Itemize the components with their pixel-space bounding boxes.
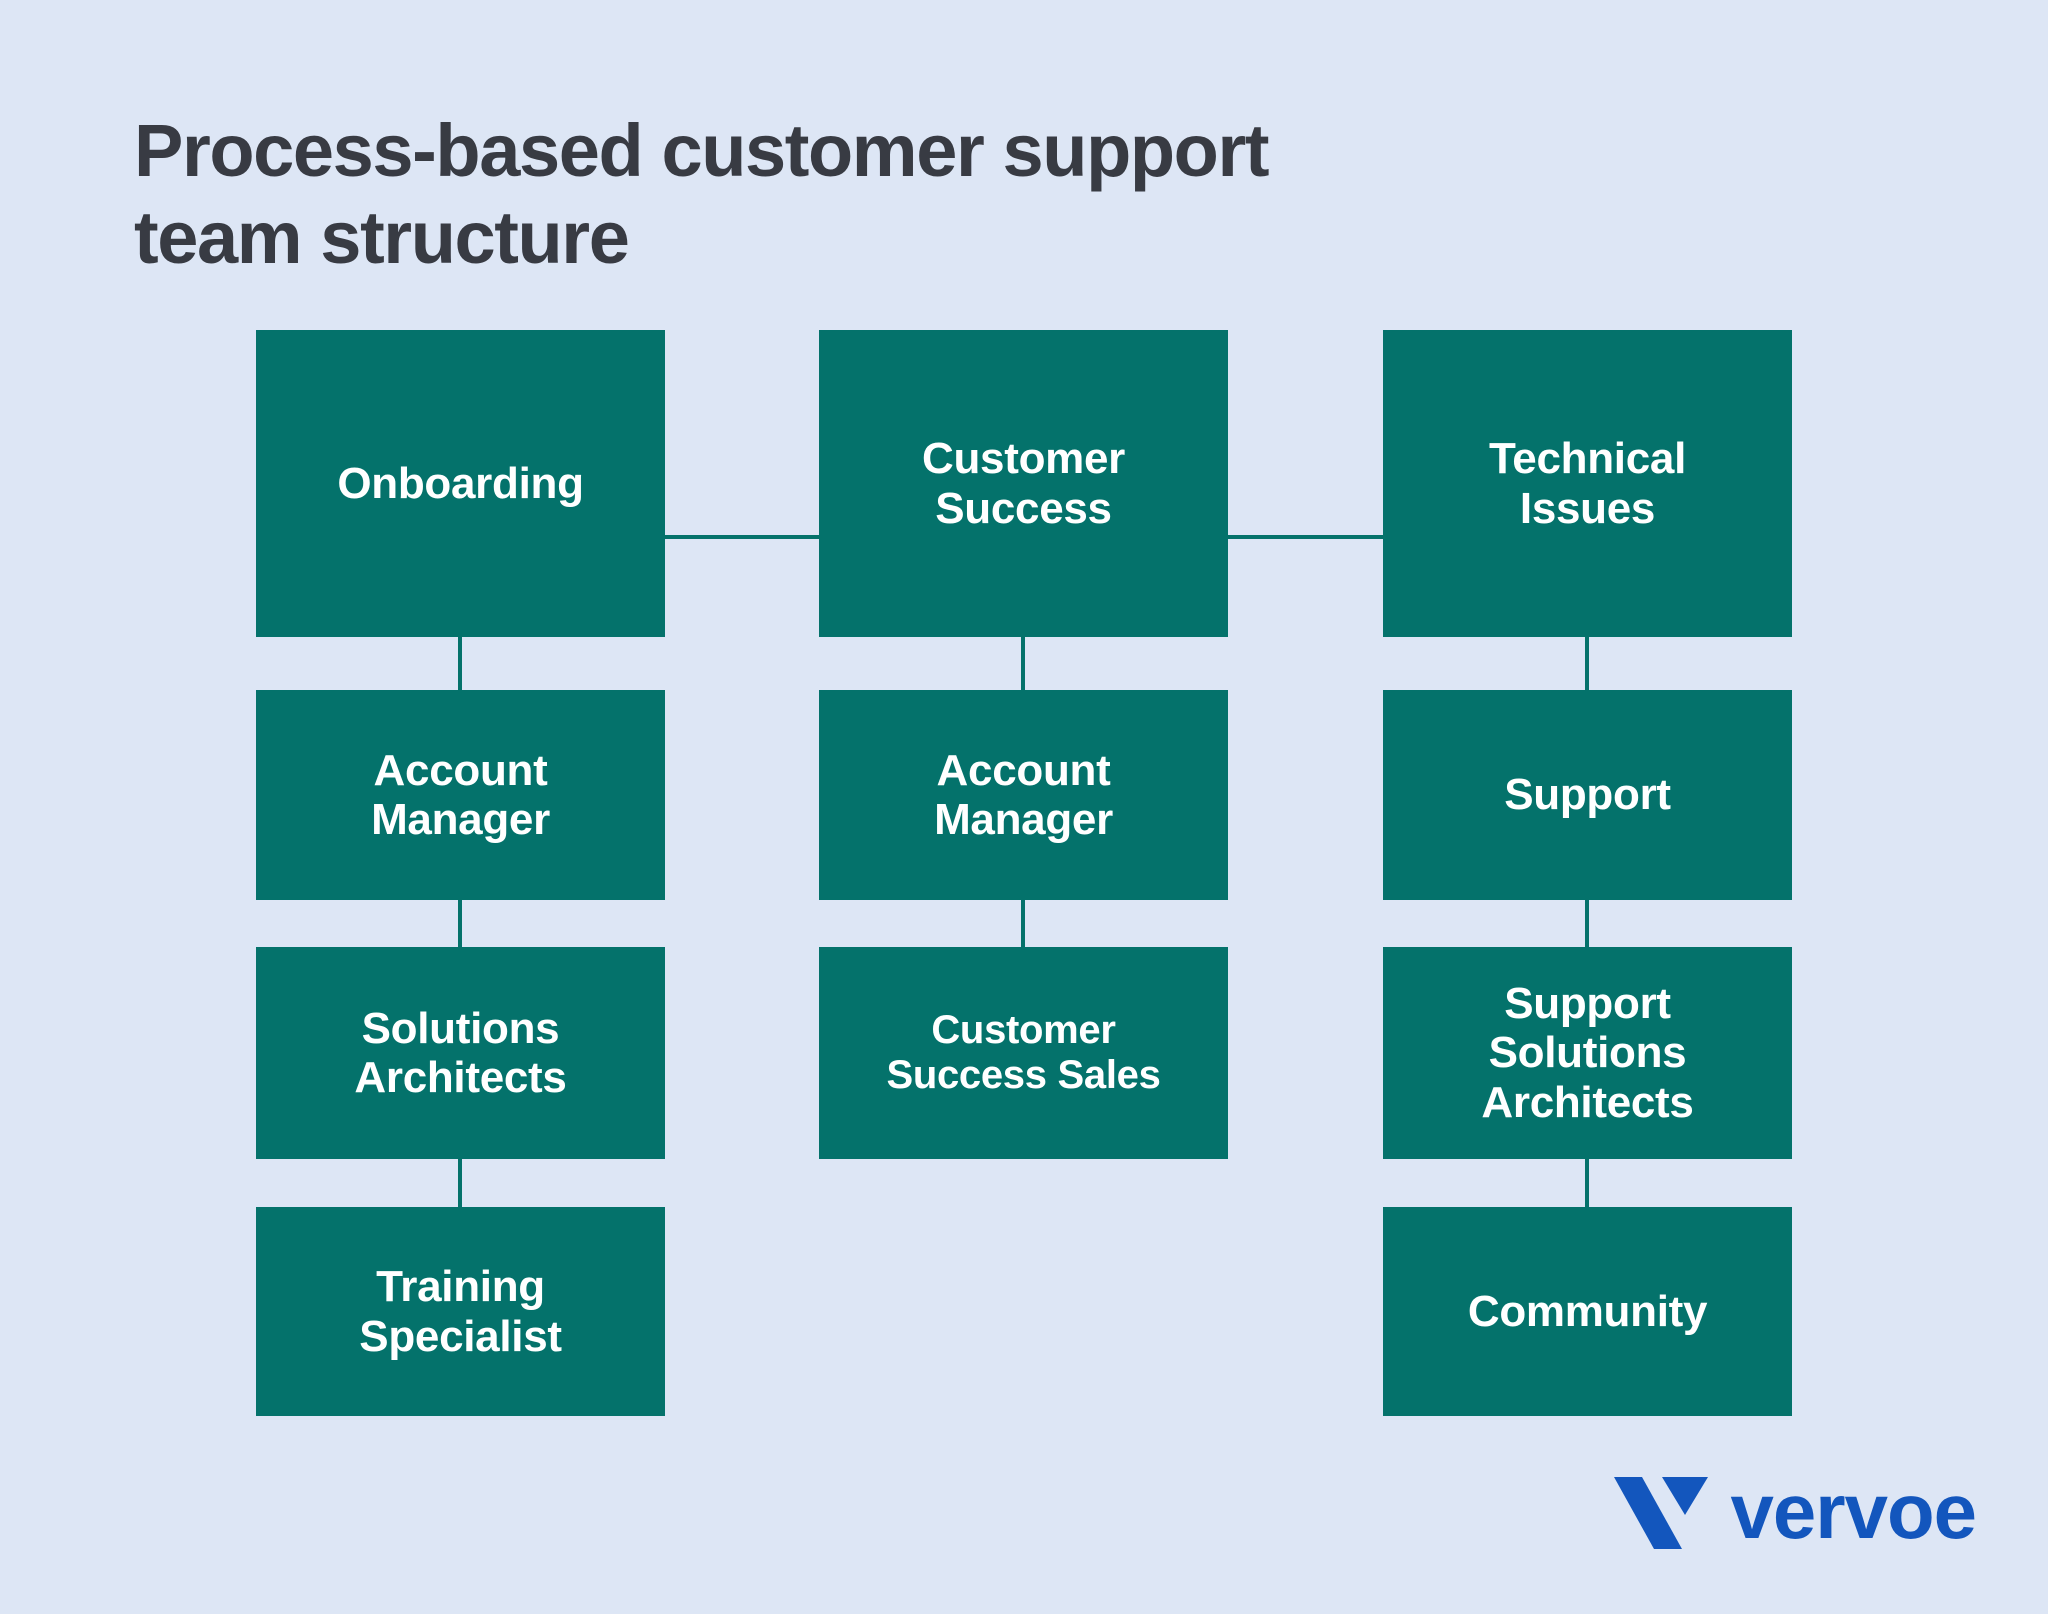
node-label: Support bbox=[1504, 770, 1671, 819]
node-customer-success-account-manager[interactable]: Account Manager bbox=[819, 690, 1228, 900]
connector-technical-issues-to-support bbox=[1585, 637, 1589, 690]
node-customer-success-sales[interactable]: Customer Success Sales bbox=[819, 947, 1228, 1159]
connector-support-solutions-architects-to-community bbox=[1585, 1159, 1589, 1207]
connector-support-to-support-solutions-architects bbox=[1585, 900, 1589, 947]
node-label: Customer Success bbox=[922, 434, 1125, 533]
connector-customer-success-to-account-manager bbox=[1021, 637, 1025, 690]
diagram-canvas: Process-based customer support team stru… bbox=[0, 0, 2048, 1614]
node-technical-issues[interactable]: Technical Issues bbox=[1383, 330, 1792, 637]
node-community[interactable]: Community bbox=[1383, 1207, 1792, 1416]
node-solutions-architects[interactable]: Solutions Architects bbox=[256, 947, 665, 1159]
node-label: Support Solutions Architects bbox=[1481, 979, 1693, 1127]
connector-solutions-architects-to-training-specialist bbox=[458, 1159, 462, 1207]
node-label: Community bbox=[1468, 1287, 1707, 1336]
connector-account-manager-to-solutions-architects bbox=[458, 900, 462, 947]
node-label: Customer Success Sales bbox=[886, 1008, 1160, 1098]
vervoe-logo: vervoe bbox=[1612, 1463, 1976, 1559]
connector-customer-success-to-technical-issues bbox=[1224, 535, 1387, 539]
vervoe-v-mark-icon bbox=[1612, 1463, 1708, 1559]
node-training-specialist[interactable]: Training Specialist bbox=[256, 1207, 665, 1416]
connector-onboarding-to-account-manager bbox=[458, 637, 462, 690]
vervoe-wordmark: vervoe bbox=[1730, 1472, 1976, 1550]
node-label: Solutions Architects bbox=[354, 1004, 566, 1103]
connector-onboarding-to-customer-success bbox=[661, 535, 823, 539]
node-label: Onboarding bbox=[337, 459, 583, 508]
node-support[interactable]: Support bbox=[1383, 690, 1792, 900]
node-onboarding[interactable]: Onboarding bbox=[256, 330, 665, 637]
node-customer-success[interactable]: Customer Success bbox=[819, 330, 1228, 637]
node-support-solutions-architects[interactable]: Support Solutions Architects bbox=[1383, 947, 1792, 1159]
connector-account-manager-to-customer-success-sales bbox=[1021, 900, 1025, 947]
org-chart: Onboarding Account Manager Solutions Arc… bbox=[0, 0, 2048, 1614]
node-label: Account Manager bbox=[371, 746, 550, 845]
node-label: Technical Issues bbox=[1489, 434, 1686, 533]
node-onboarding-account-manager[interactable]: Account Manager bbox=[256, 690, 665, 900]
node-label: Account Manager bbox=[934, 746, 1113, 845]
node-label: Training Specialist bbox=[359, 1262, 561, 1361]
